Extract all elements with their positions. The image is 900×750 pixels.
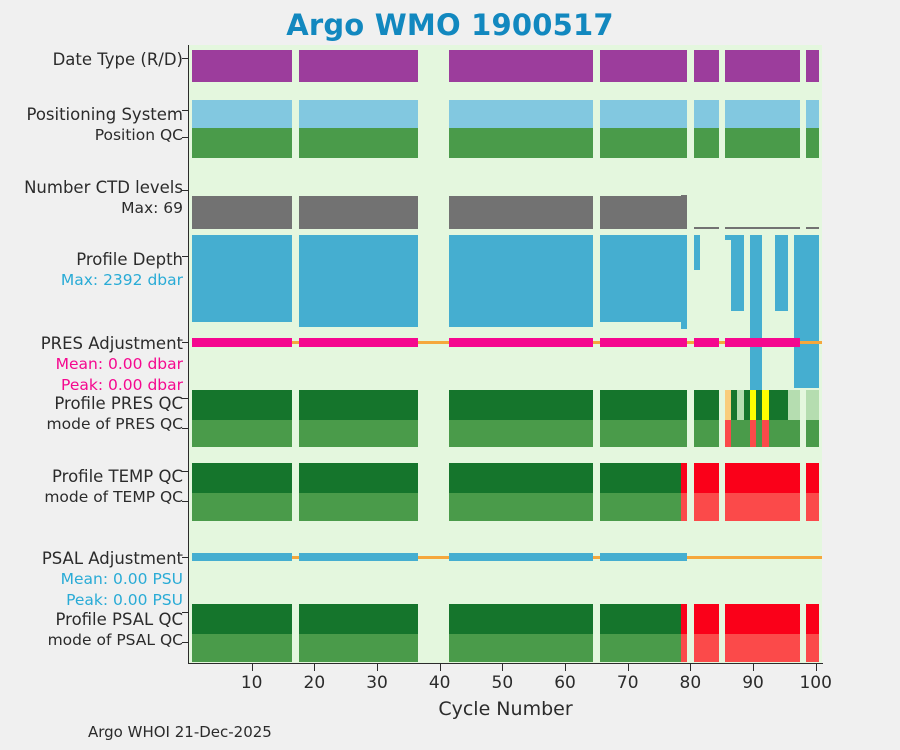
bar-date-type-r-d [449,50,593,82]
x-axis-title: Cycle Number [189,698,822,720]
row-label-psal-adjustment: Mean: 0.00 PSU [7,570,189,589]
row-label-ctd-levels: Max: 69 [7,199,189,218]
row-label-temp-qc: mode of TEMP QC [7,488,189,507]
x-axis-line [188,663,823,664]
y-axis-tick [182,557,189,558]
bar-profile-pres-qc [192,390,292,420]
bar-profile-psal-qc [806,604,819,634]
bar-positioning-system [600,100,688,128]
x-axis-tick [314,664,315,671]
bar-mode-of-pres-qc [299,420,418,447]
y-axis-tick [182,256,189,257]
bar-profile-pres-qc [600,390,688,420]
bar-mode-of-psal-qc [806,634,819,662]
bar-date-type-r-d [806,50,819,82]
y-axis-tick [182,501,189,502]
bar-mode-of-psal-qc [449,634,593,662]
x-axis-tick [252,664,253,671]
bar-profile-psal-qc [192,604,292,634]
bar-profile-temp-qc [299,463,418,493]
bar-mode-of-psal-qc [192,634,292,662]
y-axis-tick [182,471,189,472]
bar-position-qc [449,128,593,158]
bar-profile-temp-qc [694,463,719,493]
bar-mode-of-pres-qc [731,420,750,447]
x-axis-tick [565,664,566,671]
bar-psal-adjustment [192,553,292,561]
bar-profile-depth [299,235,418,327]
bar-profile-depth [794,235,819,388]
bar-profile-psal-qc [449,604,593,634]
x-axis-tick-label: 10 [222,673,282,693]
x-axis-tick-label: 70 [598,673,658,693]
bar-number-ctd-levels [600,196,681,229]
bar-psal-adjustment [299,553,418,561]
x-axis-tick [502,664,503,671]
x-axis-tick-label: 20 [284,673,344,693]
bar-mode-of-temp-qc [192,493,292,521]
y-axis-tick [182,612,189,613]
bar-profile-temp-qc [725,463,800,493]
row-label-pres-adjustment: Mean: 0.00 dbar [7,355,189,374]
y-axis-tick [182,110,189,111]
row-label-pres-adjustment: Peak: 0.00 dbar [7,376,189,395]
bar-position-qc [694,128,719,158]
x-axis-tick [690,664,691,671]
bar-mode-of-pres-qc [694,420,719,447]
bar-profile-psal-qc [725,604,800,634]
bar-date-type-r-d [299,50,418,82]
bar-position-qc [299,128,418,158]
bar-profile-pres-qc [449,390,593,420]
bar-profile-temp-qc [192,463,292,493]
bar-position-qc [806,128,819,158]
bar-mode-of-temp-qc [725,493,800,521]
bar-profile-pres-qc [299,390,418,420]
bar-position-qc [725,128,800,158]
argo-profile-chart: Argo WMO 1900517 Date Type (R/D)Position… [0,0,900,750]
x-axis-tick-label: 30 [347,673,407,693]
bar-number-ctd-levels [725,227,744,229]
bar-profile-temp-qc [681,463,687,493]
bar-pres-adjustment [449,338,593,347]
bar-number-ctd-levels [192,196,292,229]
bar-profile-depth [681,235,687,329]
bar-pres-adjustment [600,338,688,347]
bar-mode-of-pres-qc [600,420,688,447]
y-axis-tick [182,428,189,429]
bar-number-ctd-levels [794,227,800,229]
bar-position-qc [600,128,688,158]
x-axis-tick-label: 80 [660,673,720,693]
bar-positioning-system [192,100,292,128]
bar-profile-pres-qc [788,390,801,420]
row-label-psal-qc: Profile PSAL QC [7,610,189,629]
bar-mode-of-pres-qc [449,420,593,447]
y-axis-tick [182,190,189,191]
bar-profile-depth [600,235,681,322]
bar-profile-depth [775,235,788,311]
bar-profile-psal-qc [681,604,687,634]
y-axis-tick [182,137,189,138]
bar-mode-of-temp-qc [681,493,687,521]
bar-profile-depth [731,235,744,311]
bar-pres-adjustment [299,338,418,347]
bar-mode-of-temp-qc [694,493,719,521]
bar-profile-depth [449,235,593,327]
bar-positioning-system [725,100,800,128]
row-label-positioning-system: Position QC [7,126,189,145]
bar-date-type-r-d [725,50,800,82]
x-axis-tick [440,664,441,671]
row-label-positioning-system: Positioning System [7,105,189,124]
x-axis-tick [753,664,754,671]
row-label-ctd-levels: Number CTD levels [7,178,189,197]
bar-profile-psal-qc [694,604,719,634]
bar-mode-of-psal-qc [681,634,687,662]
bar-profile-temp-qc [806,463,819,493]
row-label-pres-qc: mode of PRES QC [7,415,189,434]
bar-profile-psal-qc [299,604,418,634]
row-label-profile-depth: Profile Depth [7,250,189,269]
bar-psal-adjustment [449,553,593,561]
row-label-column: Date Type (R/D)Positioning SystemPositio… [0,0,189,750]
row-label-pres-adjustment: PRES Adjustment [7,334,189,353]
bar-profile-depth [192,235,292,322]
bar-mode-of-psal-qc [694,634,719,662]
x-axis-tick-label: 40 [410,673,470,693]
row-label-psal-adjustment: Peak: 0.00 PSU [7,591,189,610]
bar-mode-of-psal-qc [299,634,418,662]
bar-profile-depth [694,235,700,270]
bar-mode-of-temp-qc [600,493,681,521]
bar-number-ctd-levels [700,227,719,229]
bar-profile-pres-qc [806,390,819,420]
bar-mode-of-psal-qc [725,634,800,662]
row-label-profile-depth: Max: 2392 dbar [7,271,189,290]
bar-profile-temp-qc [449,463,593,493]
row-label-date-type: Date Type (R/D) [7,50,189,69]
x-axis-tick [377,664,378,671]
x-axis-tick-label: 50 [472,673,532,693]
bar-date-type-r-d [694,50,719,82]
bar-positioning-system [806,100,819,128]
bar-profile-psal-qc [600,604,681,634]
bar-number-ctd-levels [762,227,793,229]
bar-profile-pres-qc [694,390,719,420]
bar-date-type-r-d [600,50,688,82]
footer-credit: Argo WHOI 21-Dec-2025 [88,723,272,741]
bar-positioning-system [299,100,418,128]
row-label-psal-qc: mode of PSAL QC [7,631,189,650]
bar-mode-of-pres-qc [192,420,292,447]
x-axis-tick [628,664,629,671]
bar-date-type-r-d [192,50,292,82]
bar-profile-temp-qc [600,463,681,493]
row-label-temp-qc: Profile TEMP QC [7,467,189,486]
bar-pres-adjustment [192,338,292,347]
bar-positioning-system [449,100,593,128]
bar-mode-of-temp-qc [449,493,593,521]
bar-mode-of-temp-qc [806,493,819,521]
bar-pres-adjustment [694,338,719,347]
bar-profile-pres-qc [769,390,788,420]
x-axis-tick-label: 100 [786,673,846,693]
bar-mode-of-psal-qc [600,634,681,662]
y-axis-tick [182,342,189,343]
bar-mode-of-temp-qc [299,493,418,521]
bar-number-ctd-levels [681,195,687,229]
x-axis-tick [816,664,817,671]
row-label-pres-qc: Profile PRES QC [7,394,189,413]
row-label-psal-adjustment: PSAL Adjustment [7,549,189,568]
bar-mode-of-pres-qc [806,420,819,447]
y-axis-tick [182,642,189,643]
bar-number-ctd-levels [806,227,819,229]
bar-number-ctd-levels [449,196,593,229]
x-axis-tick-label: 90 [723,673,783,693]
y-axis-tick [182,58,189,59]
bar-pres-adjustment [725,338,800,347]
bar-number-ctd-levels [299,196,418,229]
y-axis-tick [182,398,189,399]
bar-psal-adjustment [600,553,688,561]
bar-position-qc [192,128,292,158]
bar-mode-of-pres-qc [769,420,800,447]
bar-positioning-system [694,100,719,128]
x-axis-tick-label: 60 [535,673,595,693]
